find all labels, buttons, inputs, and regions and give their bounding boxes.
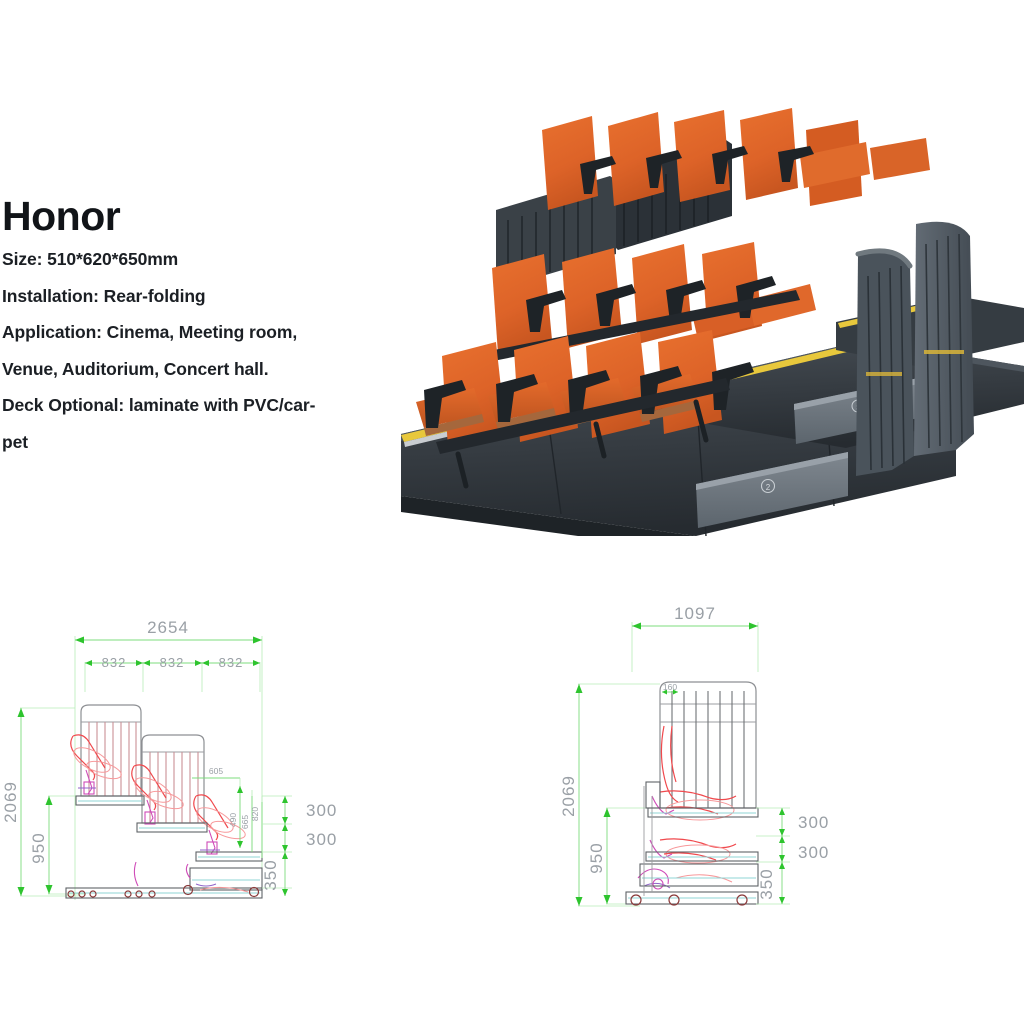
dim-bay-3: 832	[219, 655, 244, 670]
dim-bay-widths: 832 832 832	[85, 655, 260, 692]
dim-rail-top: 160	[662, 682, 678, 695]
dim-overall-height: 2069	[1, 708, 80, 896]
dim-bay-1: 832	[102, 655, 127, 670]
seat-row-2	[484, 242, 816, 362]
dim-300-b-side: 300	[798, 843, 829, 862]
spec-deck-1: Deck Optional: laminate with PVC/car-	[2, 397, 392, 415]
dim-bay-2: 832	[160, 655, 185, 670]
dim-row-depth: 605	[192, 766, 240, 778]
dim-490: 490	[228, 813, 238, 827]
deck-slabs	[66, 796, 262, 898]
dim-605: 605	[209, 766, 223, 776]
dim-overall-height-side: 2069	[560, 684, 660, 906]
dim-300-a-front: 300	[306, 801, 337, 820]
front-elevation-drawing: 2654 832 832 832 2	[0, 600, 400, 930]
spec-installation: Installation: Rear-folding	[2, 288, 392, 306]
dim-2654: 2654	[147, 618, 189, 637]
dim-950-side: 950	[587, 842, 606, 873]
dim-665: 665	[240, 815, 250, 829]
side-railing: 160	[660, 682, 756, 808]
deck-badge-2: 2	[766, 483, 771, 492]
dim-overall-depth: 1097	[632, 604, 758, 672]
product-spec-block: Honor Size: 510*620*650mm Installation: …	[0, 196, 392, 470]
side-guard-rail-inner	[856, 251, 914, 476]
dim-seat-depths: 490 665 820	[228, 778, 262, 858]
spec-application-1: Application: Cinema, Meeting room,	[2, 324, 392, 342]
page-title: Honor	[2, 196, 392, 237]
dim-350-side: 350	[757, 868, 776, 899]
side-elevation-drawing: 1097 2069 950	[560, 596, 870, 930]
dim-820: 820	[250, 807, 260, 821]
spec-application-2: Venue, Auditorium, Concert hall.	[2, 361, 392, 379]
dim-seated-height: 950	[29, 796, 86, 894]
dim-300-b-front: 300	[306, 830, 337, 849]
spec-sheet-page: Honor Size: 510*620*650mm Installation: …	[0, 0, 1024, 1024]
dim-tier-rises-front: 300 300 350	[261, 796, 337, 896]
dim-350-front: 350	[261, 859, 280, 890]
dim-160: 160	[663, 682, 677, 692]
dim-300-a-side: 300	[798, 813, 829, 832]
dim-1097: 1097	[674, 604, 716, 623]
side-guard-rail-outer	[914, 222, 974, 456]
product-photo: 2 3	[396, 104, 1024, 536]
dim-2069-side: 2069	[560, 775, 578, 817]
dim-seated-height-side: 950	[587, 808, 652, 904]
dim-950-front: 950	[29, 832, 48, 863]
spec-size: Size: 510*620*650mm	[2, 251, 392, 269]
dim-tier-rises-side: 300 300 350	[756, 808, 829, 904]
spec-deck-2: pet	[2, 434, 392, 452]
dim-2069-front: 2069	[1, 781, 20, 823]
